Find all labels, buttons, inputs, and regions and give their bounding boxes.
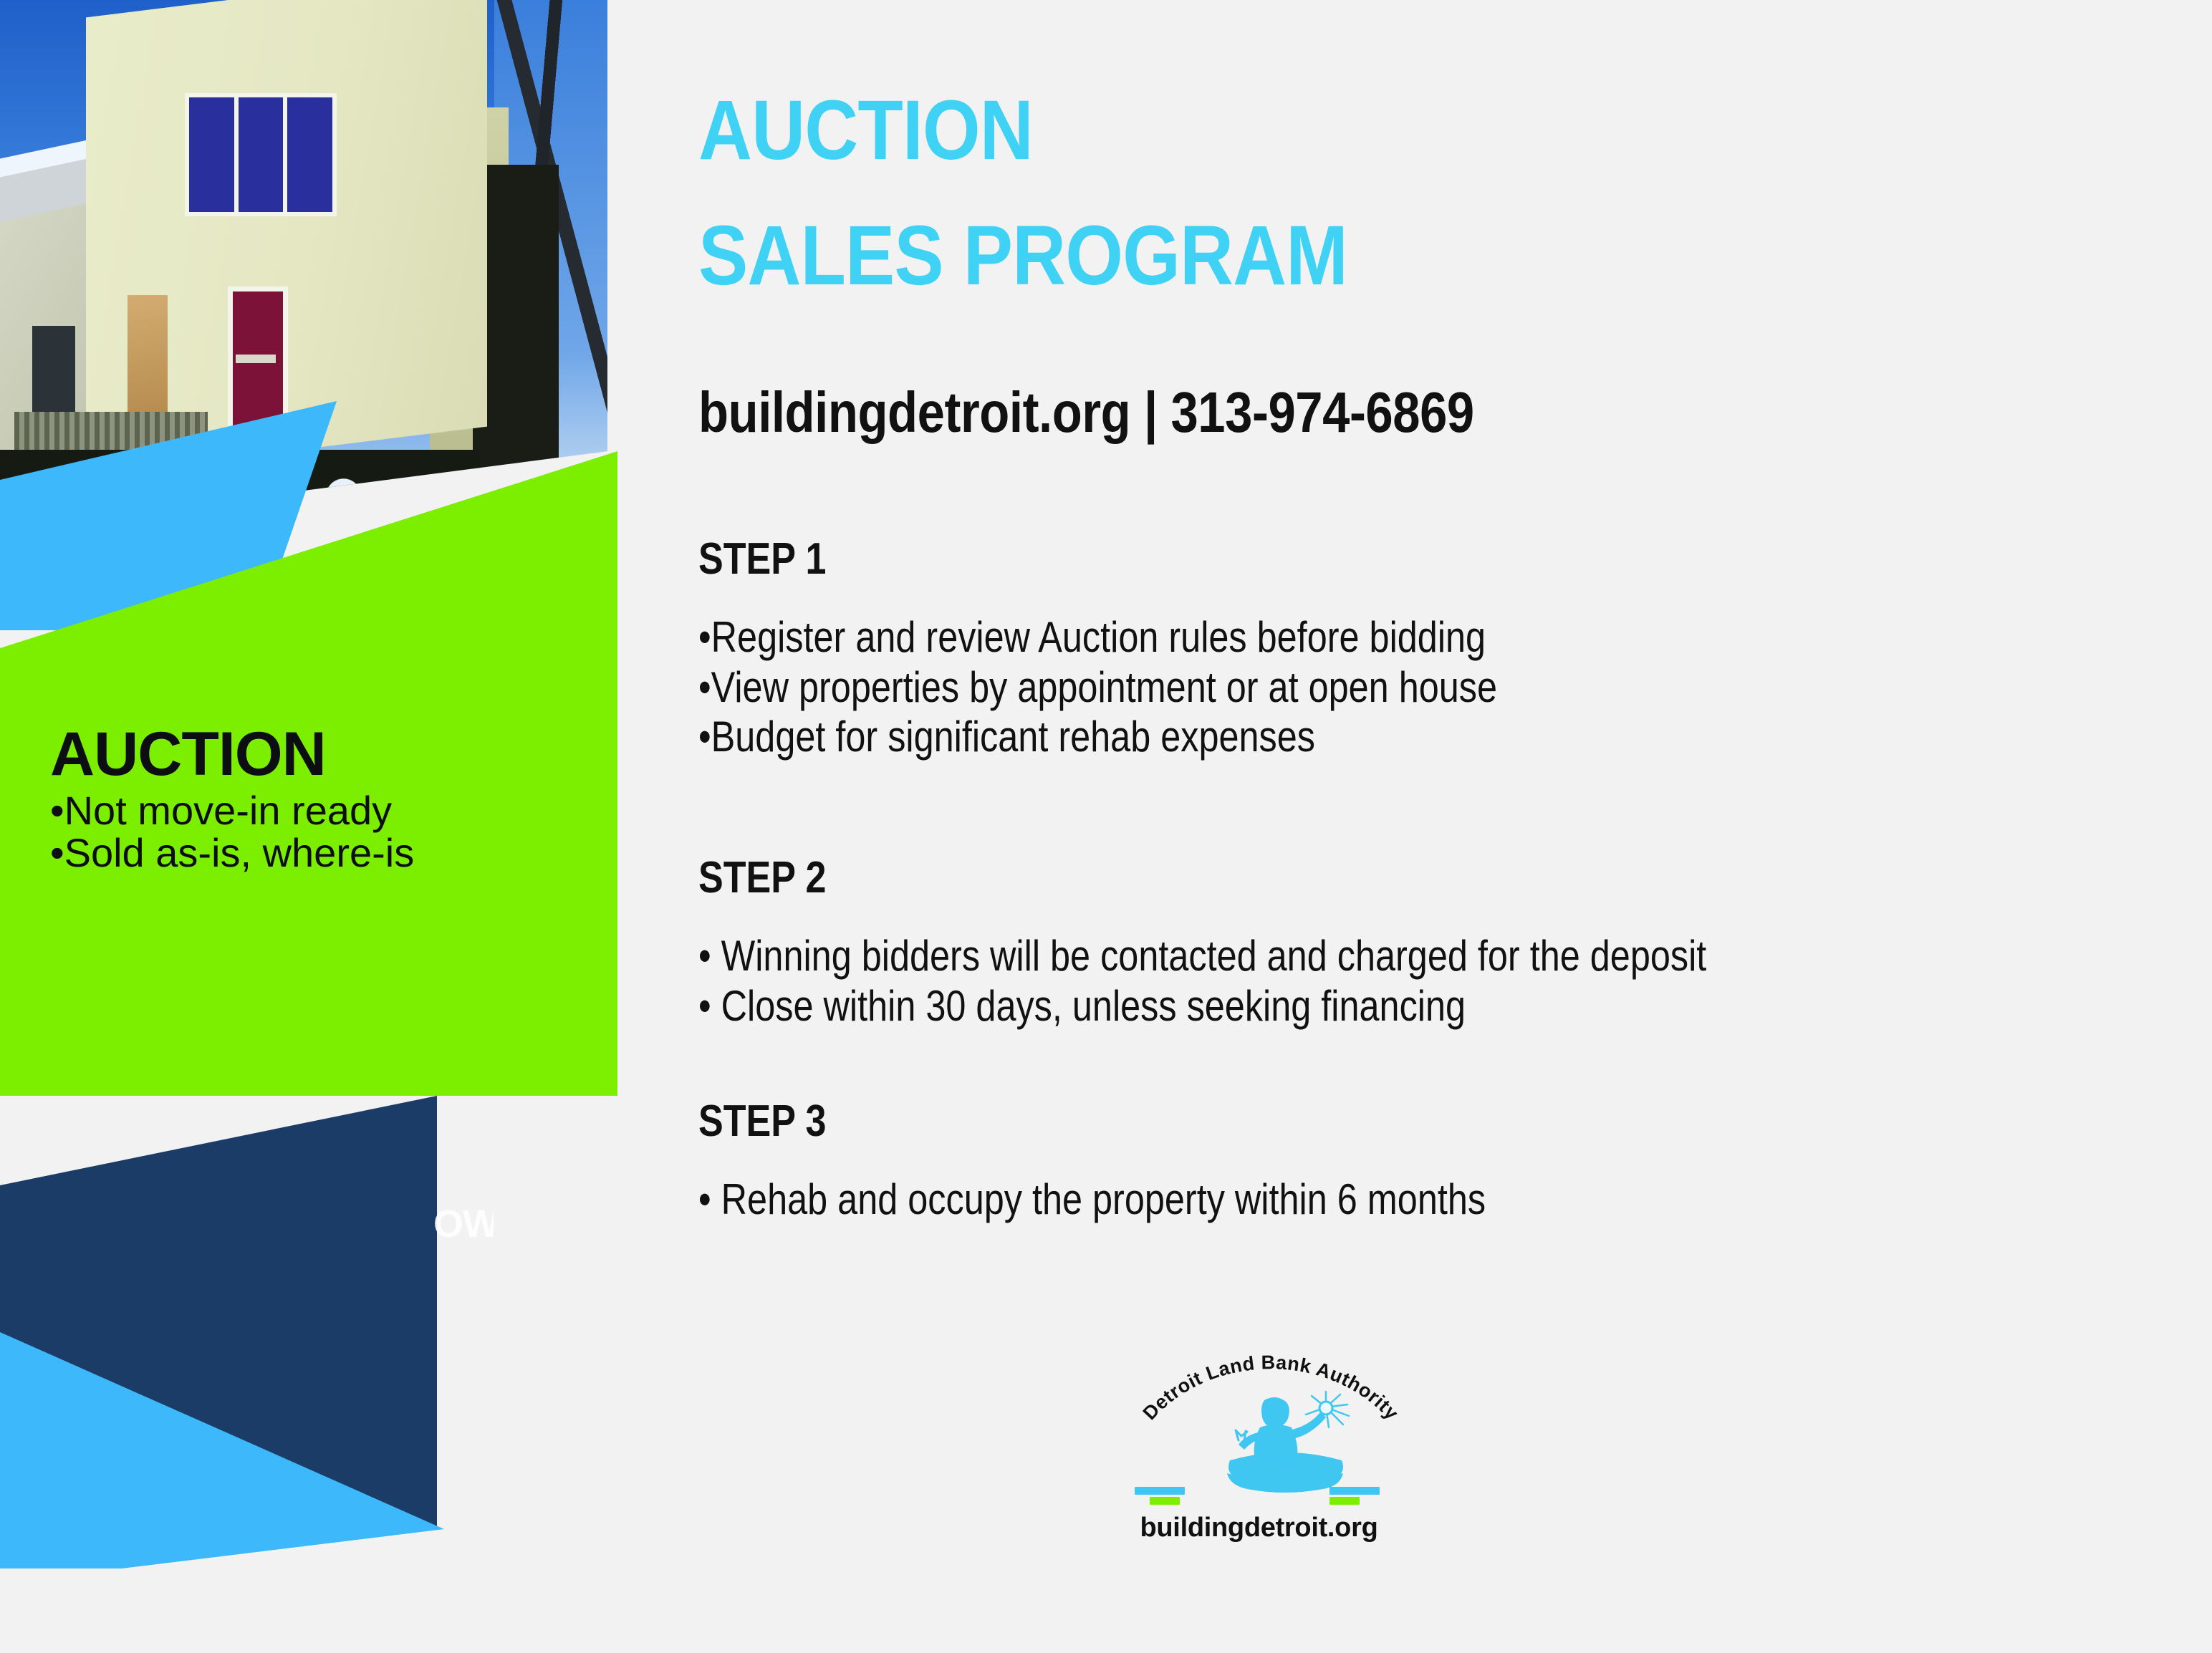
logo-url-label: buildingdetroit.org (1117, 1513, 1400, 1543)
page-title-line-1: AUCTION (698, 86, 1033, 175)
step-2-bullet-list: • Winning bidders will be contacted and … (698, 931, 1706, 1031)
green-panel-title: AUCTION (50, 723, 501, 785)
page-title-line-2: SALES PROGRAM (698, 211, 1347, 301)
step-2-heading: STEP 2 (698, 852, 827, 903)
step-3-bullet-list: • Rehab and occupy the property within 6… (698, 1175, 1486, 1225)
list-item: •Sold as-is, where-is (50, 832, 501, 874)
list-item: •Not move-in ready (50, 789, 501, 832)
detroit-land-bank-authority-logo: Detroit Land Bank Authority (1117, 1325, 1476, 1561)
list-item: •Budget for significant rehab expenses (698, 712, 1497, 762)
upper-window (185, 93, 337, 216)
logo-dash-cyan-left (1135, 1487, 1185, 1495)
logo-dash-cyan-right (1329, 1487, 1380, 1495)
left-graphic-column: AUCTION •Not move-in ready •Sold as-is, … (0, 0, 630, 1653)
neighbor-door (32, 326, 75, 426)
green-panel-bullet-list: •Not move-in ready •Sold as-is, where-is (0, 789, 501, 874)
list-item: •Register and review Auction rules befor… (698, 612, 1497, 662)
green-panel-content: AUCTION •Not move-in ready •Sold as-is, … (0, 723, 501, 874)
step-1-bullet-list: •Register and review Auction rules befor… (698, 612, 1497, 762)
boarded-window (128, 295, 168, 417)
list-item: •View properties by appointment or at op… (698, 662, 1497, 713)
step-3-heading: STEP 3 (698, 1096, 827, 1147)
contact-line: buildingdetroit.org | 313-974-6869 (698, 380, 1474, 445)
list-item: • Close within 30 days, unless seeking f… (698, 981, 1706, 1031)
list-item: • Winning bidders will be contacted and … (698, 931, 1706, 981)
logo-dash-green-left (1150, 1497, 1180, 1505)
step-1-heading: STEP 1 (698, 534, 827, 584)
list-item: • Rehab and occupy the property within 6… (698, 1175, 1486, 1225)
spirit-of-detroit-icon (1186, 1386, 1386, 1493)
logo-dash-green-right (1329, 1497, 1360, 1505)
clipped-bid-now-text: OW! (433, 1202, 494, 1246)
